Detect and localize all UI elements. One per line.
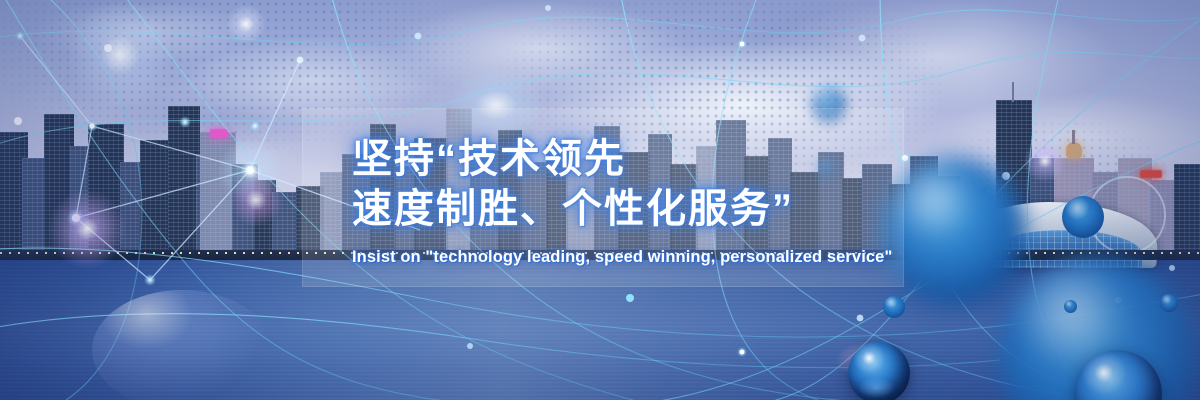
text-overlay-panel [302,108,904,287]
blue-sphere [883,296,905,318]
blue-sphere [1064,300,1077,313]
blue-sphere [1062,196,1104,238]
hero-banner: 坚持“技术领先 速度制胜、个性化服务” Insist on "technolog… [0,0,1200,400]
blue-sphere [1160,294,1178,312]
blue-sphere [848,342,910,400]
